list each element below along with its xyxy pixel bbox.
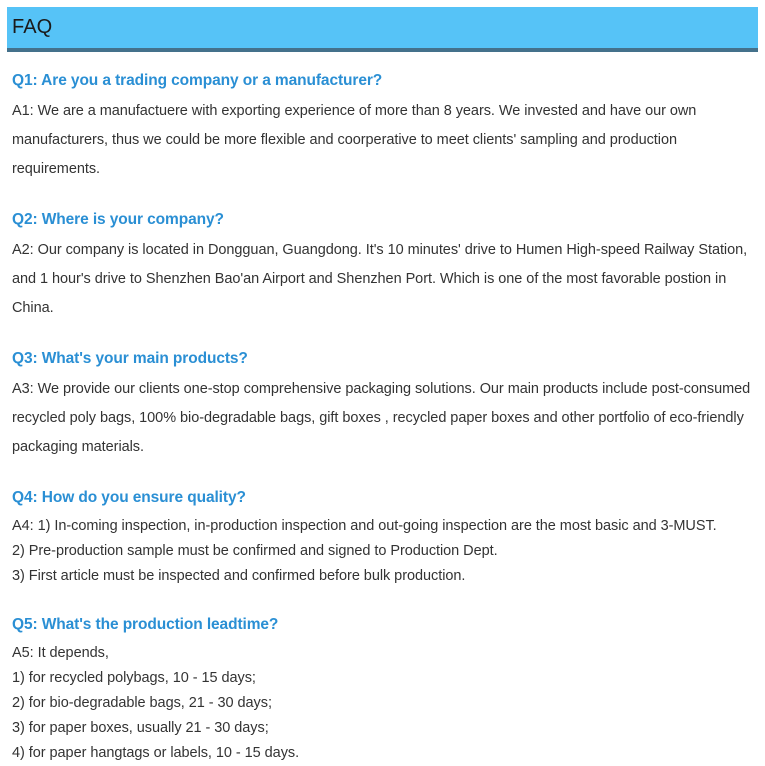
faq-question-q2: Q2: Where is your company? bbox=[12, 209, 753, 230]
faq-question-q5: Q5: What's the production leadtime? bbox=[12, 614, 753, 635]
faq-answer-q1: A1: We are a manufactuere with exporting… bbox=[12, 97, 753, 184]
faq-item-q2: Q2: Where is your company? A2: Our compa… bbox=[12, 209, 753, 323]
faq-answer-line: 4) for paper hangtags or labels, 10 - 15… bbox=[12, 741, 753, 766]
faq-answer-q2: A2: Our company is located in Dongguan, … bbox=[12, 236, 753, 323]
faq-answer-line: A1: We are a manufactuere with exporting… bbox=[12, 97, 753, 184]
faq-item-q1: Q1: Are you a trading company or a manuf… bbox=[12, 70, 753, 184]
faq-answer-line: A3: We provide our clients one-stop comp… bbox=[12, 375, 753, 462]
faq-answer-line: 1) for recycled polybags, 10 - 15 days; bbox=[12, 666, 753, 691]
faq-question-q1: Q1: Are you a trading company or a manuf… bbox=[12, 70, 753, 91]
faq-question-q3: Q3: What's your main products? bbox=[12, 348, 753, 369]
faq-answer-q3: A3: We provide our clients one-stop comp… bbox=[12, 375, 753, 462]
faq-list: Q1: Are you a trading company or a manuf… bbox=[12, 70, 753, 766]
faq-item-q5: Q5: What's the production leadtime? A5: … bbox=[12, 614, 753, 766]
faq-answer-line: 2) for bio-degradable bags, 21 - 30 days… bbox=[12, 691, 753, 716]
faq-answer-q4: A4: 1) In-coming inspection, in-producti… bbox=[12, 514, 753, 589]
faq-answer-line: 2) Pre-production sample must be confirm… bbox=[12, 539, 753, 564]
faq-item-q4: Q4: How do you ensure quality? A4: 1) In… bbox=[12, 487, 753, 589]
faq-question-q4: Q4: How do you ensure quality? bbox=[12, 487, 753, 508]
faq-item-q3: Q3: What's your main products? A3: We pr… bbox=[12, 348, 753, 462]
faq-answer-line: A2: Our company is located in Dongguan, … bbox=[12, 236, 753, 323]
faq-answer-line: 3) for paper boxes, usually 21 - 30 days… bbox=[12, 716, 753, 741]
faq-answer-line: A4: 1) In-coming inspection, in-producti… bbox=[12, 514, 753, 539]
faq-page: FAQ Q1: Are you a trading company or a m… bbox=[0, 0, 765, 748]
faq-answer-q5: A5: It depends, 1) for recycled polybags… bbox=[12, 641, 753, 766]
faq-title: FAQ bbox=[12, 11, 52, 43]
faq-header-banner: FAQ bbox=[7, 7, 758, 52]
faq-answer-line: A5: It depends, bbox=[12, 641, 753, 666]
faq-answer-line: 3) First article must be inspected and c… bbox=[12, 564, 753, 589]
